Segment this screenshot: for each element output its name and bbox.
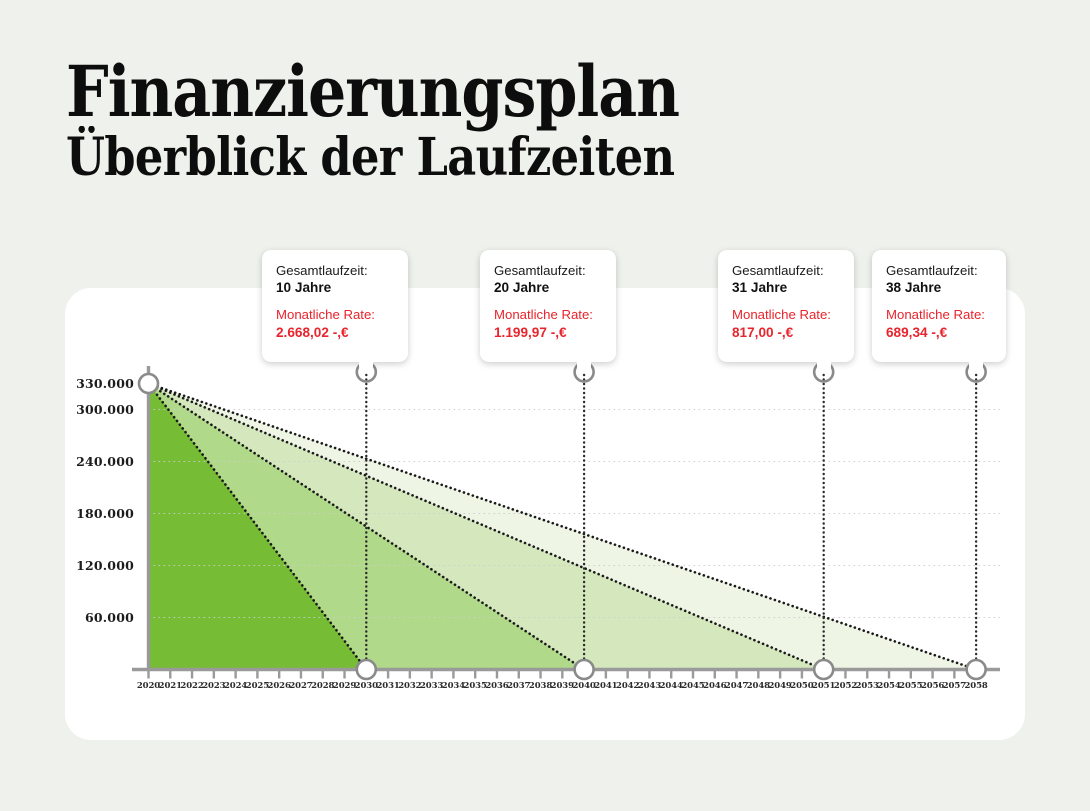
callout-duration-label: Gesamtlaufzeit: [732,262,840,279]
callout-duration-value: 31 Jahre [732,279,840,297]
y-axis-tick-label: 240.000 [62,454,134,469]
callout-duration-label: Gesamtlaufzeit: [494,262,602,279]
page-subtitle: Überblick der Laufzeiten [66,131,892,184]
callout-duration-label: Gesamtlaufzeit: [276,262,394,279]
x-axis-tick-label: 2058 [961,681,991,691]
y-axis-tick-label: 180.000 [62,506,134,521]
callout-duration-label: Gesamtlaufzeit: [886,262,992,279]
callout-box[interactable]: Gesamtlaufzeit:20 JahreMonatliche Rate:1… [480,250,616,362]
callout-box[interactable]: Gesamtlaufzeit:31 JahreMonatliche Rate:8… [718,250,854,362]
callout-box[interactable]: Gesamtlaufzeit:38 JahreMonatliche Rate:6… [872,250,1006,362]
y-axis-tick-label: 330.000 [62,376,134,391]
callout-rate-label: Monatliche Rate: [732,306,840,323]
y-axis-tick-label: 300.000 [62,402,134,417]
callout-duration-value: 38 Jahre [886,279,992,297]
callout-duration-value: 10 Jahre [276,279,394,297]
callout-rate-value: 1.199,97 -,€ [494,324,602,342]
page-root: Finanzierungsplan Überblick der Laufzeit… [0,0,1090,811]
callout-box[interactable]: Gesamtlaufzeit:10 JahreMonatliche Rate:2… [262,250,408,362]
callout-rate-value: 689,34 -,€ [886,324,992,342]
callout-rate-value: 817,00 -,€ [732,324,840,342]
callout-rate-value: 2.668,02 -,€ [276,324,394,342]
page-header: Finanzierungsplan Überblick der Laufzeit… [66,58,1026,184]
callout-tail [817,360,831,373]
page-title: Finanzierungsplan [66,58,892,127]
y-axis-tick-label: 120.000 [62,558,134,573]
callout-rate-label: Monatliche Rate: [886,306,992,323]
callout-rate-label: Monatliche Rate: [276,306,394,323]
callout-rate-label: Monatliche Rate: [494,306,602,323]
callout-duration-value: 20 Jahre [494,279,602,297]
y-axis-tick-label: 60.000 [62,610,134,625]
